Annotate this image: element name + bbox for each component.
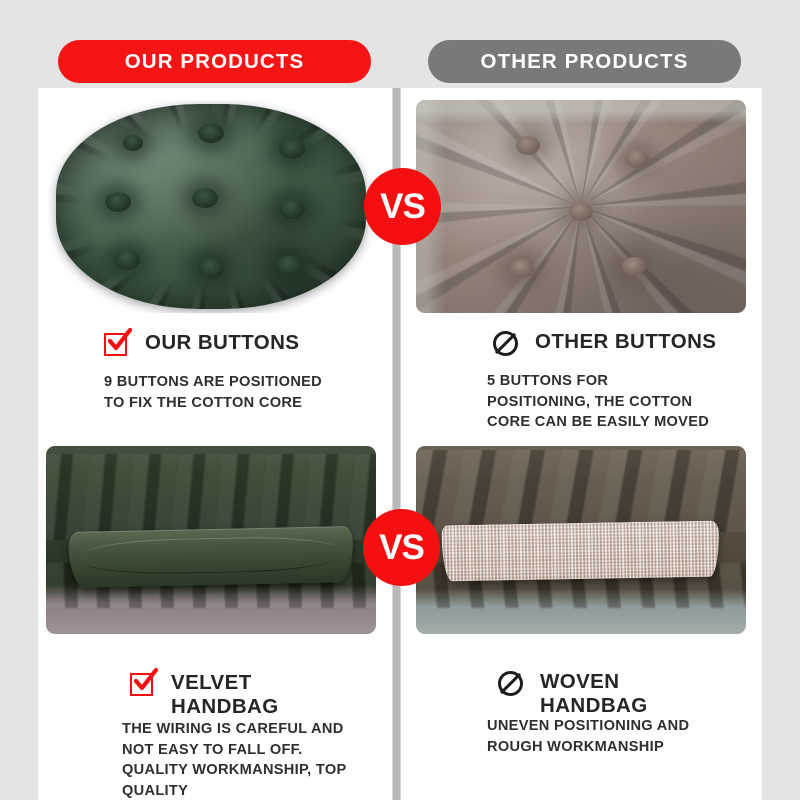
feature-other-buttons: OTHER BUTTONS [492, 327, 716, 357]
ban-icon [492, 327, 522, 357]
feature-other-buttons-title: OTHER BUTTONS [535, 327, 716, 354]
comparison-infographic: OUR PRODUCTS OTHER PRODUCTS [0, 0, 800, 800]
feature-velvet-handbag: VELVET HANDBAG [128, 668, 279, 718]
taupe-cushion-edge-highlight [416, 100, 746, 313]
feature-woven-handbag-title: WOVEN HANDBAG [540, 667, 648, 717]
header-badge-our-products: OUR PRODUCTS [58, 40, 371, 83]
check-box-icon [128, 668, 158, 698]
vs-badge-row-1: VS [364, 168, 441, 245]
woven-handle-strap [442, 521, 720, 582]
photo-green-tufted-cushion [46, 100, 376, 313]
check-box-icon [102, 328, 132, 358]
photo-woven-burlap-handle [416, 446, 746, 634]
feature-velvet-handbag-title: VELVET HANDBAG [171, 668, 279, 718]
velvet-handle-strap [69, 526, 354, 588]
vs-badge-row-2: VS [363, 509, 440, 586]
header-badge-other-products-label: OTHER PRODUCTS [481, 50, 689, 74]
vs-badge-row-2-label: VS [379, 528, 424, 568]
feature-our-buttons-body: 9 BUTTONS ARE POSITIONED TO FIX THE COTT… [104, 372, 322, 413]
header-badge-our-products-label: OUR PRODUCTS [125, 50, 304, 74]
header-badge-other-products: OTHER PRODUCTS [428, 40, 741, 83]
photo-taupe-tufted-cushion [416, 100, 746, 313]
green-cushion-body [56, 104, 366, 308]
feature-woven-handbag-body: UNEVEN POSITIONING AND ROUGH WORKMANSHIP [487, 716, 689, 757]
vs-badge-row-1-label: VS [380, 187, 425, 227]
green-cushion-tufts [56, 104, 366, 308]
feature-woven-handbag: WOVEN HANDBAG [497, 667, 648, 717]
photo-green-velvet-handle [46, 446, 376, 634]
feature-other-buttons-body: 5 BUTTONS FOR POSITIONING, THE COTTON CO… [487, 371, 709, 433]
feature-velvet-handbag-body: THE WIRING IS CAREFUL AND NOT EASY TO FA… [122, 719, 347, 800]
feature-our-buttons-title: OUR BUTTONS [145, 328, 299, 355]
feature-our-buttons: OUR BUTTONS [102, 328, 299, 358]
ban-icon [497, 667, 527, 697]
